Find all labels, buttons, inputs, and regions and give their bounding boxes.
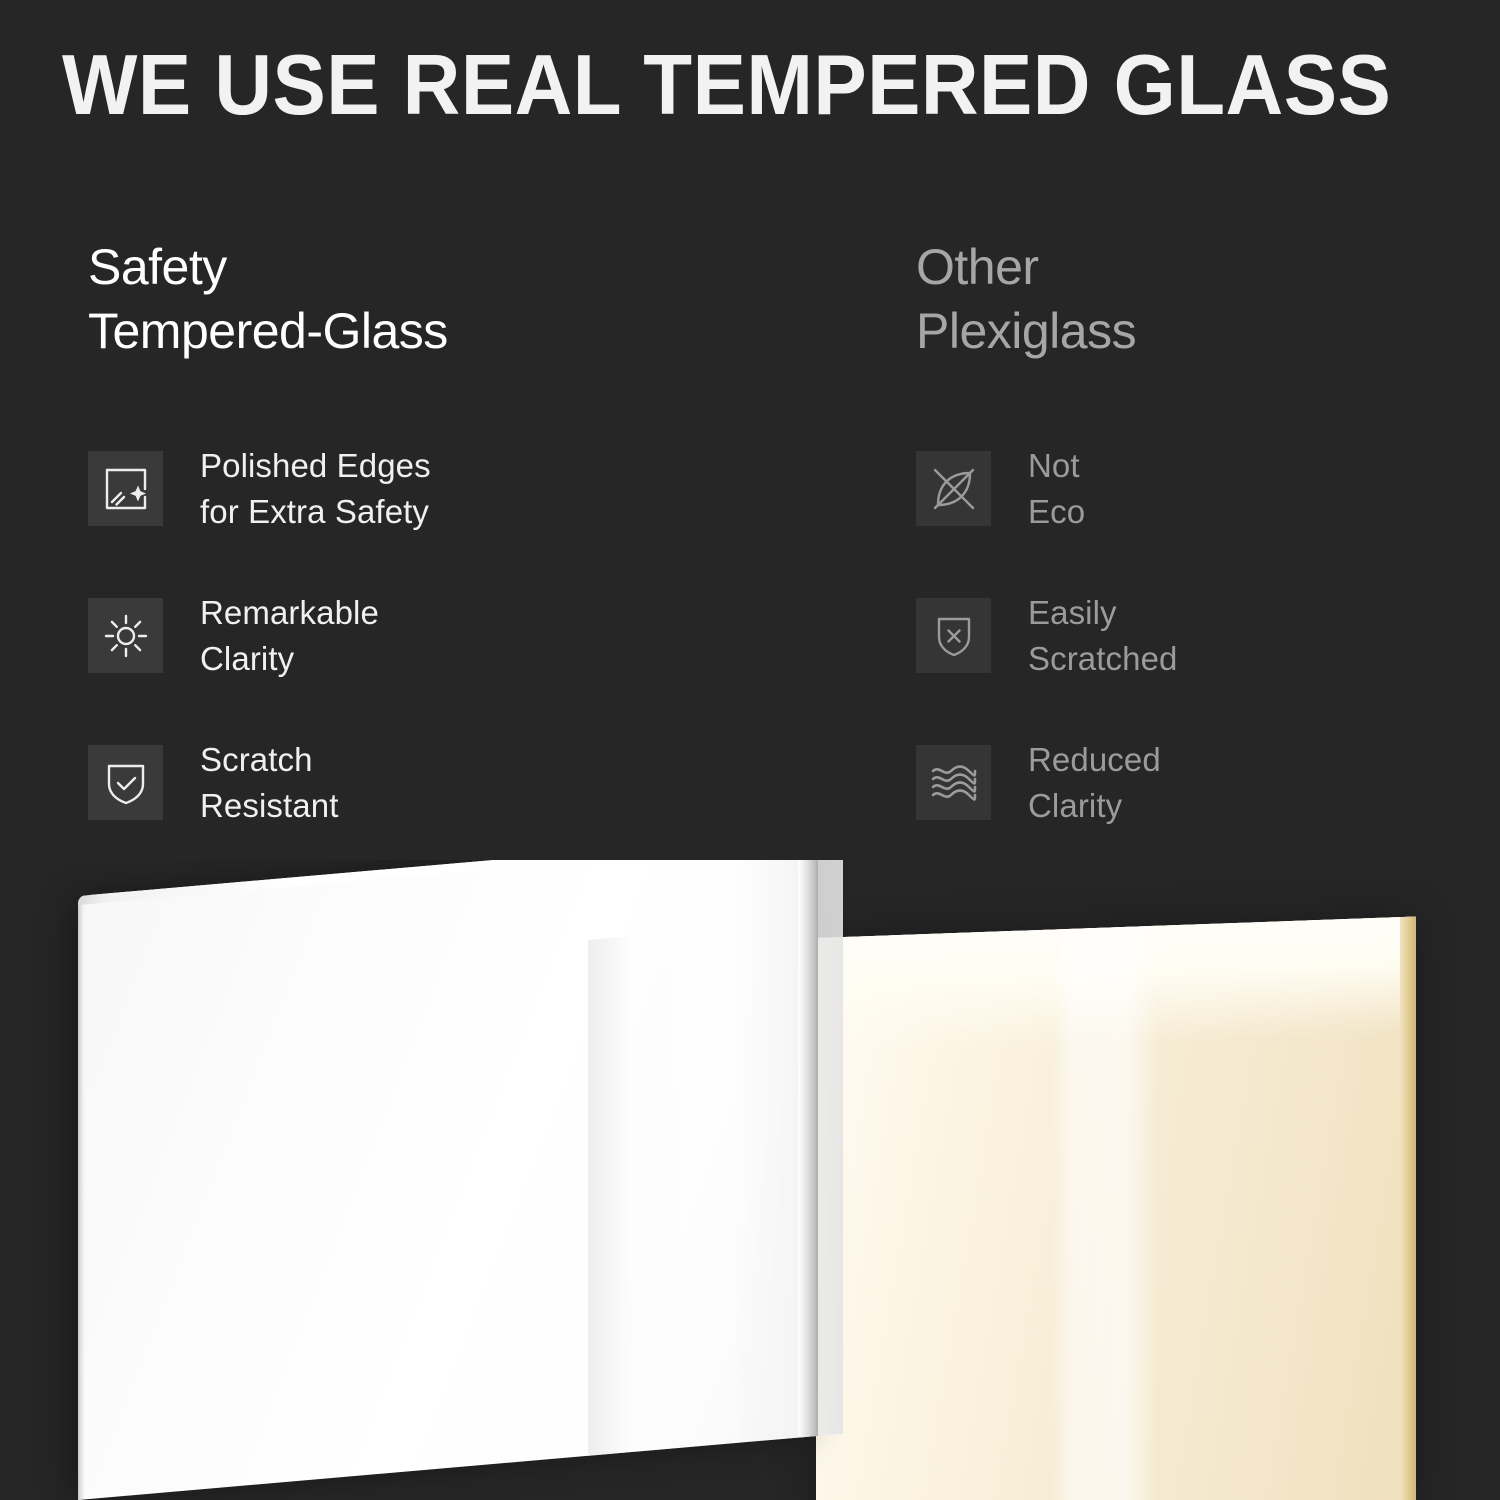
feature-label: Easily Scratched (1028, 590, 1177, 680)
feature-label: Scratch Resistant (200, 737, 338, 827)
glass-top-edge (78, 860, 818, 905)
feature-scratch-resistant: Scratch Resistant (88, 745, 808, 820)
feature-label: Reduced Clarity (1028, 737, 1161, 827)
wavy-lines-icon (916, 745, 991, 820)
column-safety-tempered-glass: Safety Tempered-Glass Polished Edges for… (88, 235, 808, 820)
product-comparison-image (0, 860, 1500, 1500)
sun-clarity-icon (88, 598, 163, 673)
column-other-plexiglass: Other Plexiglass Not Eco (916, 235, 1476, 820)
feature-not-eco: Not Eco (916, 451, 1476, 526)
glass-reflection (588, 927, 738, 1456)
feature-polished-edges: Polished Edges for Extra Safety (88, 451, 808, 526)
header-bar: WE USE REAL TEMPERED GLASS (0, 0, 1500, 170)
polished-edge-sparkle-icon (88, 451, 163, 526)
column-heading-right: Other Plexiglass (916, 235, 1476, 363)
column-heading-left: Safety Tempered-Glass (88, 235, 808, 363)
glass-left-edge (78, 895, 85, 1500)
feature-list-left: Polished Edges for Extra Safety Remarkab… (88, 451, 808, 820)
leaf-crossed-out-icon (916, 451, 991, 526)
comparison-columns: Safety Tempered-Glass Polished Edges for… (0, 235, 1500, 875)
feature-reduced-clarity: Reduced Clarity (916, 745, 1476, 820)
shield-check-icon (88, 745, 163, 820)
plexiglass-panel (816, 917, 1416, 1500)
glass-reflection-secondary (733, 860, 843, 1443)
feature-label: Remarkable Clarity (200, 590, 379, 680)
feature-label: Not Eco (1028, 443, 1085, 533)
glass-right-bevel (798, 860, 818, 1438)
shield-x-icon (916, 598, 991, 673)
tempered-glass-panel (78, 860, 818, 1500)
feature-list-right: Not Eco Easily Scratched (916, 451, 1476, 820)
feature-label: Polished Edges for Extra Safety (200, 443, 431, 533)
feature-easily-scratched: Easily Scratched (916, 598, 1476, 673)
page-title: WE USE REAL TEMPERED GLASS (62, 43, 1391, 128)
feature-remarkable-clarity: Remarkable Clarity (88, 598, 808, 673)
plexi-reflection-band (1052, 926, 1158, 1500)
plexi-right-bevel (1400, 917, 1416, 1500)
